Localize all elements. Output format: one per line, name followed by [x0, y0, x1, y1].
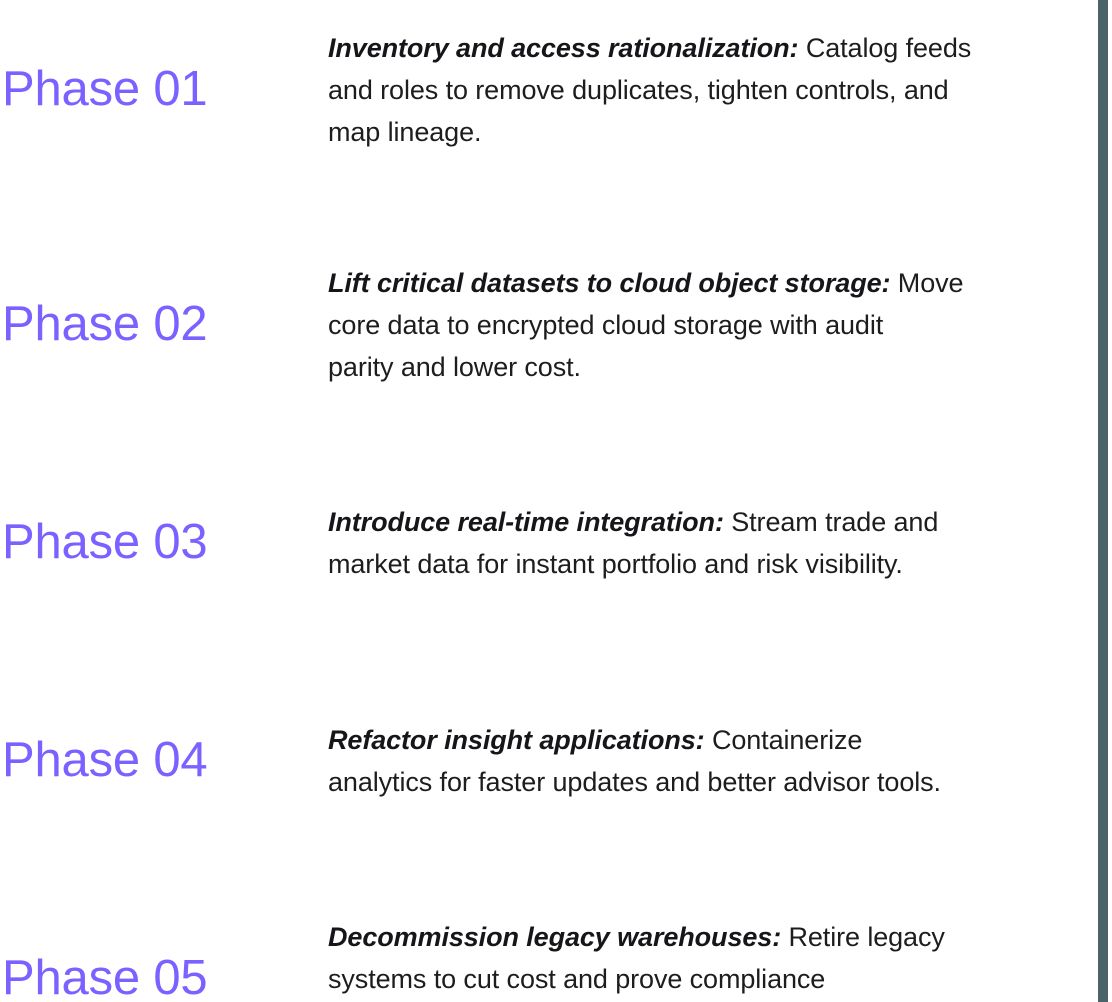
phase-desc-part: map lineage. [328, 117, 481, 147]
phase-label-02: Phase 02 [0, 299, 328, 350]
body-line: analytics for faster updates and better … [328, 761, 1112, 803]
phase-desc-part: core data to encrypted cloud storage wit… [328, 310, 883, 340]
phase-list: Phase 01 Inventory and access rationaliz… [0, 0, 1112, 1002]
phase-desc-part: Move [890, 268, 963, 298]
body-line: core data to encrypted cloud storage wit… [328, 304, 1112, 346]
vertical-accent-bar[interactable] [1098, 0, 1108, 1002]
phase-desc-part: market data for instant portfolio and ri… [328, 549, 903, 579]
body-line: map lineage. [328, 111, 1112, 153]
phase-lead-05: Decommission legacy warehouses: [328, 922, 781, 952]
phase-row: Phase 02 Lift critical datasets to cloud… [0, 216, 1112, 434]
phase-desc-part: analytics for faster updates and better … [328, 767, 941, 797]
phase-label-01: Phase 01 [0, 64, 328, 115]
phase-desc-part: parity and lower cost. [328, 352, 581, 382]
phase-desc-part: systems to cut cost and prove compliance [328, 964, 825, 994]
phase-row: Phase 03 Introduce real-time integration… [0, 434, 1112, 652]
body-line: parity and lower cost. [328, 346, 1112, 388]
phase-label-05: Phase 05 [0, 953, 328, 1002]
phase-lead-04: Refactor insight applications: [328, 725, 705, 755]
body-line: Refactor insight applications: Container… [328, 719, 1112, 761]
phase-body-04: Refactor insight applications: Container… [328, 719, 1112, 803]
phase-lead-01: Inventory and access rationalization: [328, 33, 798, 63]
body-line: Inventory and access rationalization: Ca… [328, 27, 1112, 69]
phase-row: Phase 01 Inventory and access rationaliz… [0, 0, 1112, 216]
phase-body-03: Introduce real-time integration: Stream … [328, 501, 1112, 585]
phase-desc-part: Stream trade and [724, 507, 938, 537]
phase-lead-02: Lift critical datasets to cloud object s… [328, 268, 890, 298]
phase-body-02: Lift critical datasets to cloud object s… [328, 262, 1112, 388]
phase-row: Phase 04 Refactor insight applications: … [0, 652, 1112, 870]
phase-row: Phase 05 Decommission legacy warehouses:… [0, 870, 1112, 1002]
phase-label-04: Phase 04 [0, 735, 328, 786]
body-line: and roles to remove duplicates, tighten … [328, 69, 1112, 111]
body-line: Decommission legacy warehouses: Retire l… [328, 916, 1112, 958]
body-line: market data for instant portfolio and ri… [328, 543, 1112, 585]
phase-roadmap-canvas: Phase 01 Inventory and access rationaliz… [0, 0, 1112, 1002]
body-line: systems to cut cost and prove compliance [328, 958, 1112, 1000]
phase-desc-part: Retire legacy [781, 922, 945, 952]
body-line: Lift critical datasets to cloud object s… [328, 262, 1112, 304]
phase-label-03: Phase 03 [0, 517, 328, 568]
phase-desc-part: Containerize [705, 725, 863, 755]
phase-desc-part: Catalog feeds [798, 33, 971, 63]
phase-body-01: Inventory and access rationalization: Ca… [328, 27, 1112, 153]
body-line: Introduce real-time integration: Stream … [328, 501, 1112, 543]
phase-body-05: Decommission legacy warehouses: Retire l… [328, 916, 1112, 1002]
phase-desc-part: and roles to remove duplicates, tighten … [328, 75, 949, 105]
phase-lead-03: Introduce real-time integration: [328, 507, 724, 537]
